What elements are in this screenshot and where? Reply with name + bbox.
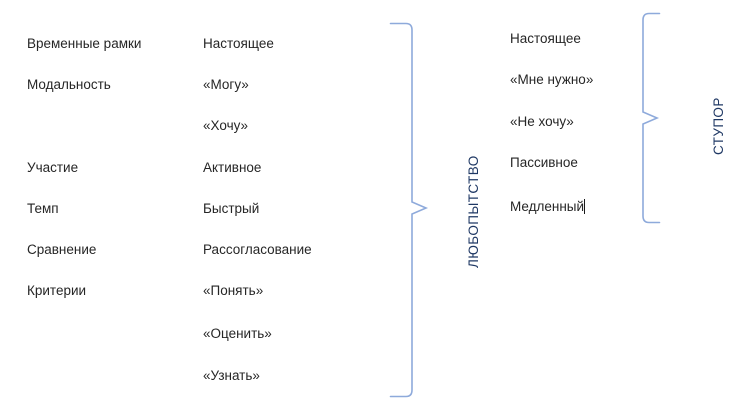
curiosity-group-label: ЛЮБОПЫТСТВО xyxy=(466,155,481,268)
curiosity-value: Быстрый xyxy=(203,201,259,217)
curiosity-value: Рассогласование xyxy=(203,242,312,258)
stupor-bracket xyxy=(620,9,680,235)
stupor-value: Настоящее xyxy=(510,31,581,47)
stupor-value-text: Медленный xyxy=(510,199,584,214)
stupor-group-label: СТУПОР xyxy=(711,97,726,155)
stupor-value: Пассивное xyxy=(510,155,578,171)
curiosity-bracket xyxy=(388,18,448,402)
curiosity-value: Активное xyxy=(203,160,261,176)
curiosity-value: «Оценить» xyxy=(203,326,272,342)
stupor-value-text: Настоящее xyxy=(510,31,581,46)
text-cursor-caret xyxy=(584,199,585,214)
attribute-label: Временные рамки xyxy=(27,36,141,52)
stupor-value-text: «Мне нужно» xyxy=(510,72,593,87)
stupor-value: «Не хочу» xyxy=(510,114,574,130)
stupor-value: Медленный xyxy=(510,199,585,215)
attribute-label: Модальность xyxy=(27,77,111,93)
curiosity-value: «Могу» xyxy=(203,77,249,93)
stupor-value-text: Пассивное xyxy=(510,155,578,170)
stupor-value-text: «Не хочу» xyxy=(510,114,574,129)
attribute-label: Сравнение xyxy=(27,242,96,258)
curiosity-value: «Понять» xyxy=(203,283,263,299)
curiosity-value: «Хочу» xyxy=(203,118,248,134)
attribute-label: Темп xyxy=(27,201,59,217)
curiosity-value: «Узнать» xyxy=(203,368,260,384)
diagram-canvas: Временные рамки Модальность Участие Темп… xyxy=(0,0,750,416)
stupor-value: «Мне нужно» xyxy=(510,72,593,88)
curiosity-value: Настоящее xyxy=(203,36,274,52)
attribute-label: Участие xyxy=(27,160,78,176)
attribute-label: Критерии xyxy=(27,283,86,299)
